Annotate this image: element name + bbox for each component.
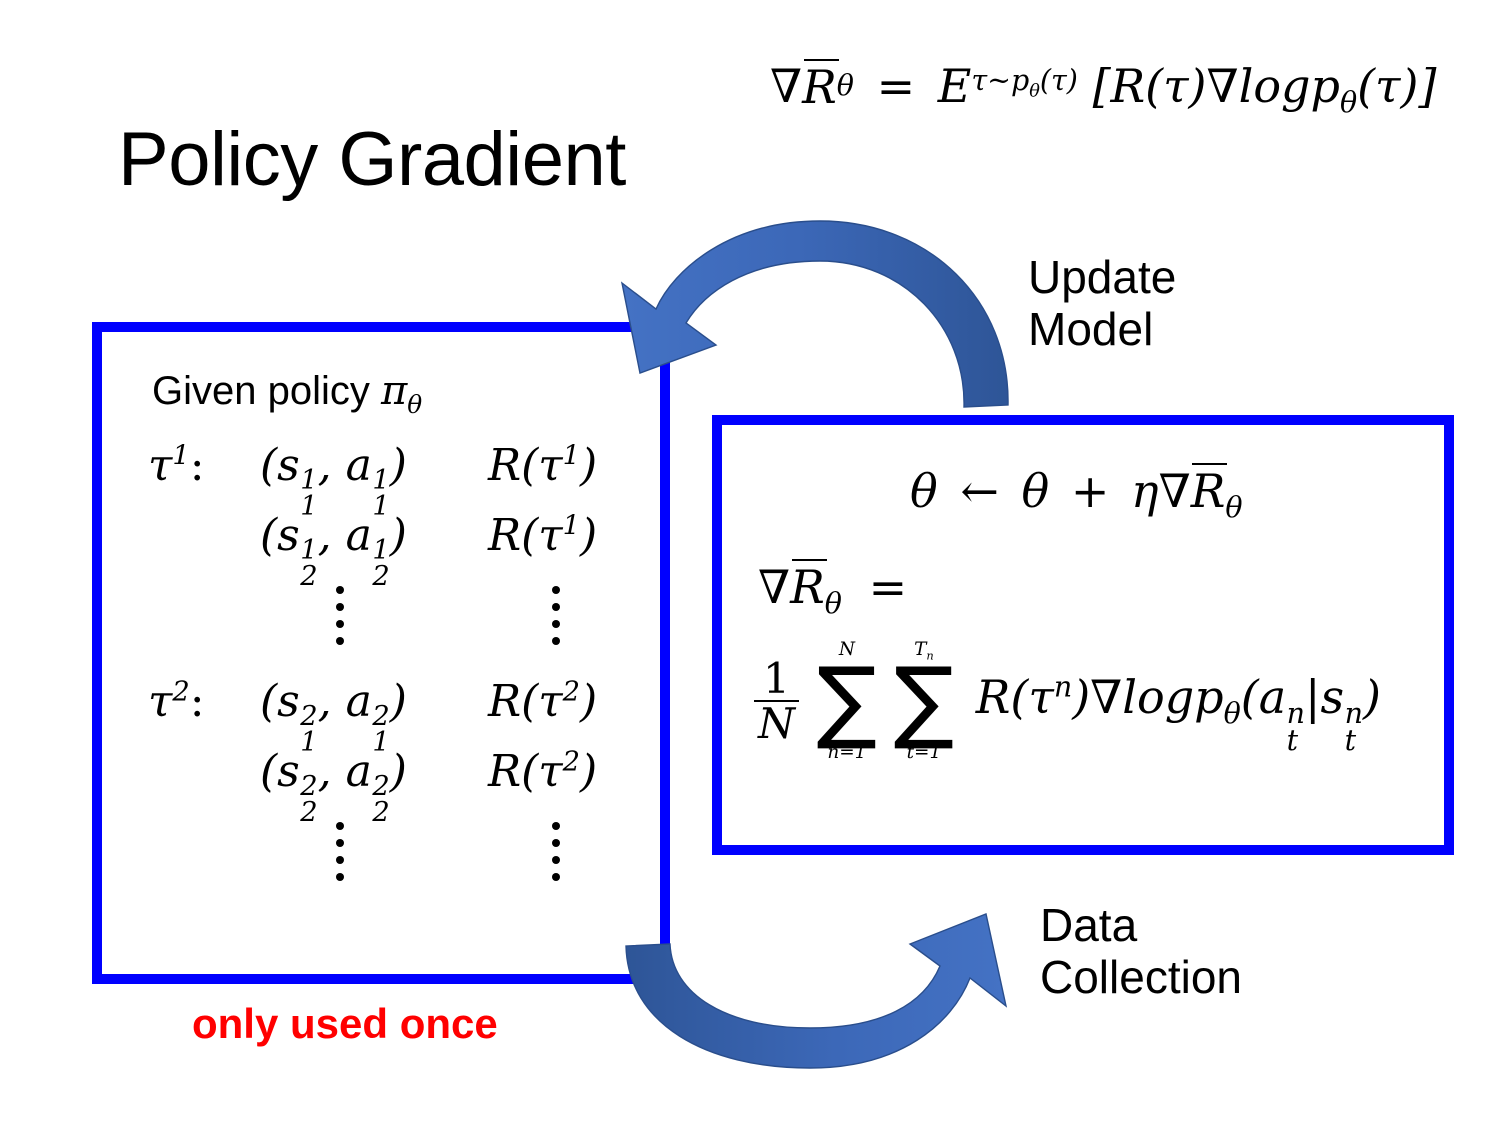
- sigma-icon: ∑: [817, 660, 877, 743]
- state-action-pair-4: (s22, a22): [260, 746, 480, 826]
- bracket-close: ]: [1418, 59, 1436, 113]
- p-theta-subscript: θ: [1340, 86, 1357, 119]
- summation-over-n: N ∑ n=1: [817, 640, 877, 763]
- data-collection-label: Data Collection: [1040, 900, 1242, 1003]
- state-action-pair-2: (s12, a12): [260, 510, 480, 590]
- left-arrow-icon: ←: [952, 464, 1007, 518]
- state-action-pair-1: (s11, a11): [260, 440, 480, 520]
- nabla-icon-2: ∇: [1207, 59, 1239, 113]
- nabla-icon: ∇: [1159, 464, 1191, 518]
- e-symbol: E: [938, 59, 972, 113]
- equals-sign: =: [869, 59, 924, 113]
- reward-function-symbol: R: [1111, 59, 1146, 113]
- expectation-operator: Eτ~pθ(τ): [938, 59, 1078, 113]
- data-collection-line-2: Collection: [1040, 952, 1242, 1004]
- bracket-open: [: [1093, 59, 1111, 113]
- theta-subscript: θ: [825, 587, 842, 620]
- equals-sign: =: [857, 560, 908, 614]
- vertical-dots-icon: [336, 586, 344, 645]
- state-action-pair-3: (s21, a21): [260, 676, 480, 756]
- vertical-dots-icon: [552, 586, 560, 645]
- log-operator: log: [1122, 670, 1194, 724]
- summand-expression: R(τn)∇logpθ(ant|snt): [970, 670, 1381, 724]
- page-title: Policy Gradient: [118, 122, 626, 198]
- p-symbol: p: [1310, 59, 1339, 113]
- nabla-icon: ∇: [770, 59, 802, 113]
- vertical-dots-icon: [336, 822, 344, 881]
- reward-value-2: R(τ1): [488, 510, 668, 561]
- top-formula-grad: ∇Rθ: [770, 58, 854, 114]
- data-collection-arrow: [614, 828, 1054, 1073]
- theta-symbol-2: θ: [1022, 464, 1050, 518]
- reward-value-4: R(τ2): [488, 746, 668, 797]
- nabla-icon: ∇: [1090, 670, 1122, 724]
- reward-value-3: R(τ2): [488, 676, 668, 727]
- only-used-once-caption: only used once: [192, 1000, 498, 1048]
- parameter-update-rule: θ ← θ + η∇Rθ: [910, 462, 1243, 518]
- vertical-dots-row-1: [148, 580, 648, 676]
- table-row: τ1: (s11, a11) R(τ1): [148, 440, 648, 510]
- conditional-bar: |: [1305, 670, 1321, 724]
- reward-value-1: R(τ1): [488, 440, 668, 491]
- update-model-line-2: Model: [1028, 304, 1176, 356]
- vertical-dots-row-2: [148, 816, 648, 912]
- given-policy-text: Given policy: [152, 369, 381, 413]
- table-row: (s12, a12) R(τ1): [148, 510, 648, 580]
- top-formula-expected-reward-gradient: ∇Rθ = Eτ~pθ(τ) [R(τ)∇logpθ(τ)]: [770, 58, 1436, 114]
- tau-argument: (τ): [1145, 59, 1206, 113]
- update-model-arrow-shape: [622, 221, 1008, 407]
- table-row: (s22, a22) R(τ2): [148, 746, 648, 816]
- gradient-definition-lhs: ∇Rθ =: [758, 558, 907, 614]
- log-operator: log: [1239, 59, 1311, 113]
- expectation-subscript: τ~pθ(τ): [971, 81, 1078, 92]
- r-symbol: R: [802, 60, 837, 114]
- tau-argument-2: (τ): [1357, 59, 1418, 113]
- data-collection-arrow-shape: [626, 914, 1006, 1068]
- trajectory-label-2: τ2:: [148, 676, 258, 727]
- update-model-line-1: Update: [1028, 252, 1176, 304]
- gradient-definition-rhs: 1 N N ∑ n=1 Tn ∑ t=1 R(τn)∇logpθ(ant|snt…: [752, 640, 1381, 763]
- theta-subscript: θ: [1225, 491, 1242, 524]
- update-model-arrow: [612, 205, 1032, 425]
- r-symbol: R: [790, 560, 825, 614]
- trajectory-label-1: τ1:: [148, 440, 258, 491]
- pi-theta-subscript: θ: [407, 390, 422, 419]
- summation-over-t: Tn ∑ t=1: [894, 640, 954, 763]
- sigma-icon: ∑: [894, 660, 954, 743]
- table-row: τ2: (s21, a21) R(τ2): [148, 676, 648, 746]
- eta-symbol: η: [1131, 464, 1159, 518]
- theta-symbol: θ: [910, 464, 938, 518]
- r-symbol: R: [1191, 464, 1226, 518]
- trajectory-table: τ1: (s11, a11) R(τ1) (s12, a12) R(τ1) τ2…: [148, 440, 648, 912]
- update-model-label: Update Model: [1028, 252, 1176, 355]
- plus-sign: +: [1064, 464, 1117, 518]
- given-policy-label: Given policy πθ: [152, 368, 422, 414]
- one-over-n-fraction: 1 N: [754, 657, 799, 745]
- pi-symbol: πθ: [381, 368, 422, 414]
- vertical-dots-icon: [552, 822, 560, 881]
- data-collection-line-1: Data: [1040, 900, 1242, 952]
- nabla-icon: ∇: [758, 560, 790, 614]
